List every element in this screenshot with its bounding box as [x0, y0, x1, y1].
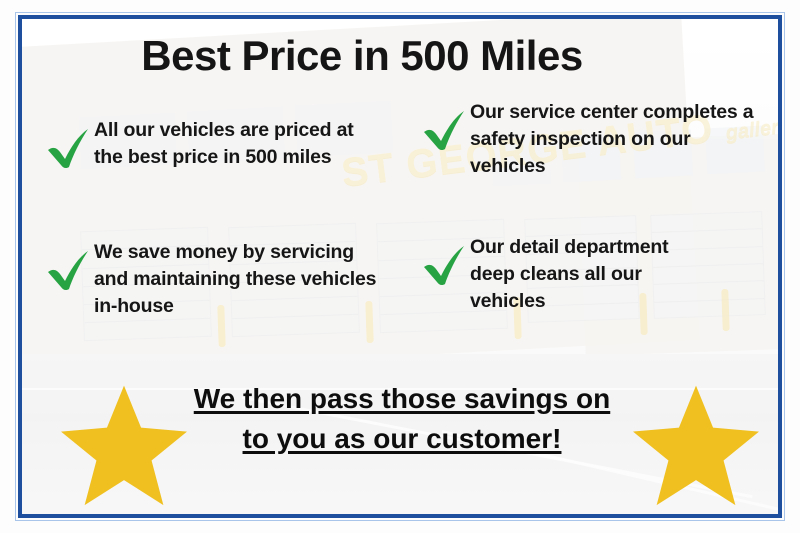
poster-frame-inner: [18, 15, 782, 518]
promo-poster: ST GEORGE AUTO gallery: [0, 0, 800, 533]
